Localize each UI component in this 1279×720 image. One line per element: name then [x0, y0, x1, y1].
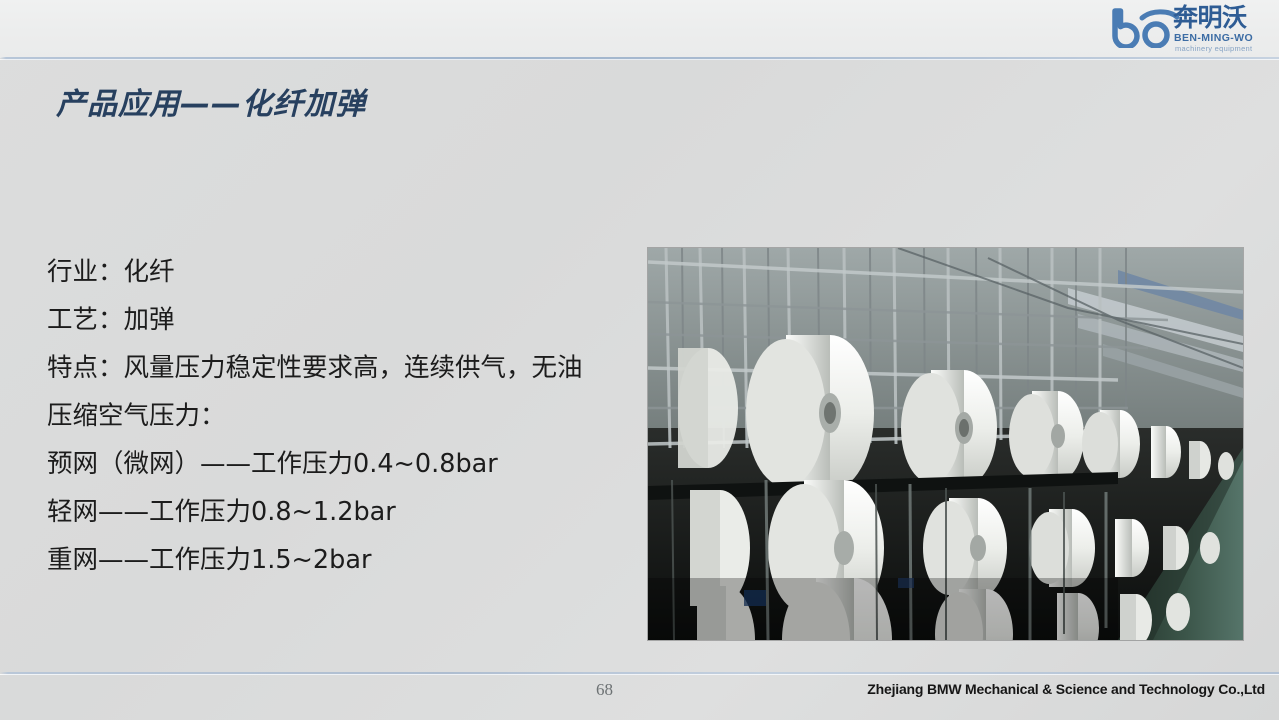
slide-title: 产品应用——化纤加弹 [56, 79, 366, 123]
slide-header-band [0, 0, 1279, 58]
body-line-pre-interlace: 预网（微网）——工作压力0.4~0.8bar [47, 440, 622, 488]
body-line-features: 特点：风量压力稳定性要求高，连续供气，无油 [47, 344, 622, 392]
logo-tagline: machinery equipment [1175, 44, 1252, 53]
body-line-industry: 行业：化纤 [47, 248, 622, 296]
logo-pinyin: BEN-MING-WO [1174, 32, 1253, 44]
slide-body-text: 行业：化纤 工艺：加弹 特点：风量压力稳定性要求高，连续供气，无油 压缩空气压力… [47, 248, 622, 584]
footer-company-name: Zhejiang BMW Mechanical & Science and Te… [867, 681, 1265, 697]
body-line-heavy-interlace: 重网——工作压力1.5~2bar [47, 536, 622, 584]
presentation-slide: 奔明沃 BEN-MING-WO machinery equipment 产品应用… [0, 0, 1279, 720]
page-number: 68 [596, 680, 613, 700]
logo-bo-monogram-icon [1111, 8, 1179, 48]
body-line-light-interlace: 轻网——工作压力0.8~1.2bar [47, 488, 622, 536]
product-application-photo [648, 248, 1243, 640]
factory-yarn-bobbins-illustration [648, 248, 1243, 640]
footer-divider-rule [0, 672, 1279, 675]
body-line-process: 工艺：加弹 [47, 296, 622, 344]
logo-chinese-name: 奔明沃 [1173, 4, 1247, 32]
body-line-pressure-heading: 压缩空气压力： [47, 392, 622, 440]
header-divider-rule [0, 57, 1279, 60]
company-logo: 奔明沃 BEN-MING-WO machinery equipment [1111, 2, 1271, 56]
